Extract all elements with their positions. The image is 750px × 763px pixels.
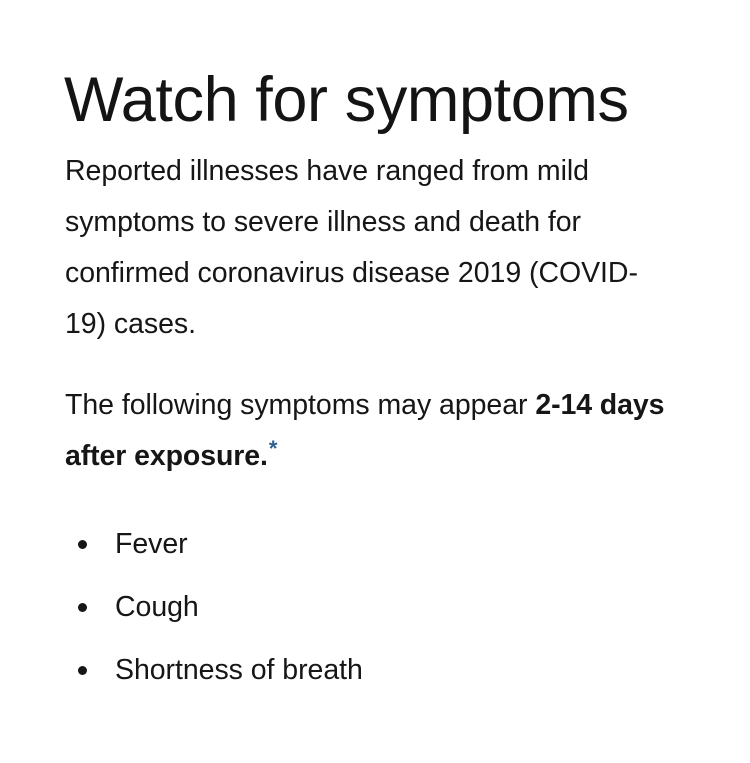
list-item: Cough [65,576,665,639]
footnote-asterisk: * [269,436,278,461]
list-item: Fever [65,513,665,576]
symptom-label: Cough [115,591,199,623]
bullet-icon [78,666,87,675]
symptoms-info-card: Watch for symptoms Reported illnesses ha… [0,0,750,763]
symptom-list: Fever Cough Shortness of breath [65,513,665,702]
bullet-icon [78,540,87,549]
page-title: Watch for symptoms [64,69,629,132]
list-item: Shortness of breath [65,639,665,702]
onset-lead-text: The following symptoms may appear [65,389,535,421]
intro-paragraph: Reported illnesses have ranged from mild… [65,146,665,350]
onset-paragraph: The following symptoms may appear 2-14 d… [65,380,665,482]
bullet-icon [78,603,87,612]
symptom-label: Fever [115,528,188,560]
symptom-label: Shortness of breath [115,654,363,686]
